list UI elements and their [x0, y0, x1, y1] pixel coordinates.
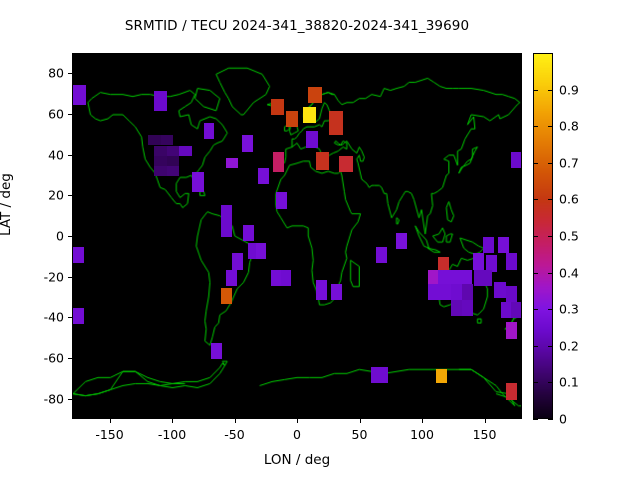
- x-tick-mark: [297, 419, 298, 423]
- y-tick-label: -60: [30, 351, 64, 366]
- colorbar-tick-mark: [548, 273, 553, 274]
- heatmap-cell: [511, 152, 522, 168]
- colorbar-tick-mark: [533, 90, 538, 91]
- x-tick-label: 150: [455, 427, 515, 442]
- colorbar-tick-mark: [548, 90, 553, 91]
- heatmap-cell: [474, 270, 492, 286]
- heatmap-cell: [376, 247, 387, 263]
- y-tick-mark: [68, 195, 72, 196]
- heatmap-cell: [148, 135, 161, 145]
- heatmap-cell: [506, 253, 517, 269]
- heatmap-cell: [258, 168, 269, 184]
- x-tick-label: -50: [205, 427, 265, 442]
- heatmap-cell: [154, 146, 167, 156]
- colorbar-tick-label: 0.3: [559, 302, 579, 317]
- y-tick-mark: [68, 399, 72, 400]
- colorbar-tick-mark: [548, 309, 553, 310]
- y-tick-mark: [68, 317, 72, 318]
- heatmap-cell: [339, 156, 353, 172]
- figure-canvas: SRMTID / TECU 2024-341_38820-2024-341_39…: [0, 0, 640, 480]
- y-tick-label: 20: [30, 188, 64, 203]
- colorbar-tick-label: 0.9: [559, 82, 579, 97]
- heatmap-cell: [286, 111, 299, 127]
- heatmap-cell: [73, 247, 84, 263]
- colorbar-tick-label: 0.2: [559, 338, 579, 353]
- x-tick-label: -100: [142, 427, 202, 442]
- heatmap-cell: [167, 146, 180, 156]
- heatmap-cell: [316, 280, 327, 300]
- colorbar-tick-mark: [533, 346, 538, 347]
- heatmap-cell: [161, 135, 174, 145]
- heatmap-cell: [232, 253, 243, 269]
- colorbar-tick-mark: [533, 382, 538, 383]
- y-tick-label: 0: [30, 229, 64, 244]
- heatmap-cell: [179, 146, 192, 156]
- heatmap-cell: [494, 282, 505, 298]
- heatmap-cell: [506, 286, 517, 302]
- heatmap-cell: [256, 243, 266, 259]
- heatmap-cells-layer: [73, 54, 521, 418]
- heatmap-cell: [506, 322, 517, 338]
- heatmap-cell: [154, 91, 167, 111]
- heatmap-cell: [73, 85, 86, 105]
- colorbar-tick-label: 0.5: [559, 229, 579, 244]
- x-axis-label: LON / deg: [72, 452, 522, 468]
- heatmap-cell: [303, 107, 316, 123]
- y-tick-mark: [68, 155, 72, 156]
- y-tick-mark: [68, 277, 72, 278]
- y-tick-mark: [68, 358, 72, 359]
- heatmap-cell: [506, 383, 517, 399]
- y-tick-label: -80: [30, 391, 64, 406]
- heatmap-cell: [192, 172, 205, 192]
- y-axis-label: LAT / deg: [0, 173, 14, 236]
- colorbar-tick-label: 0.1: [559, 375, 579, 390]
- colorbar-tick-mark: [548, 199, 553, 200]
- colorbar-tick-mark: [533, 419, 538, 420]
- colorbar-tick-label: 0.8: [559, 119, 579, 134]
- y-tick-label: 80: [30, 66, 64, 81]
- colorbar-tick-label: 0.4: [559, 265, 579, 280]
- heatmap-cell: [451, 284, 462, 300]
- heatmap-cell: [226, 158, 239, 168]
- colorbar-tick-label: 0.6: [559, 192, 579, 207]
- x-tick-mark: [360, 419, 361, 423]
- y-tick-label: -40: [30, 310, 64, 325]
- heatmap-cell: [211, 343, 222, 359]
- colorbar-tick-mark: [548, 346, 553, 347]
- heatmap-cell: [439, 284, 450, 300]
- heatmap-cell: [396, 233, 407, 249]
- heatmap-cell: [316, 152, 330, 170]
- heatmap-cell: [451, 300, 462, 316]
- y-tick-mark: [68, 236, 72, 237]
- colorbar-tick-mark: [548, 163, 553, 164]
- heatmap-cell: [221, 288, 232, 304]
- colorbar-tick-mark: [533, 199, 538, 200]
- heatmap-cell: [73, 308, 84, 324]
- heatmap-cell: [167, 156, 180, 166]
- heatmap-cell: [428, 284, 439, 300]
- map-axes: [72, 53, 522, 419]
- x-tick-label: -150: [80, 427, 140, 442]
- heatmap-cell: [521, 135, 523, 151]
- x-tick-label: 0: [267, 427, 327, 442]
- y-tick-mark: [68, 114, 72, 115]
- heatmap-cell: [281, 270, 291, 286]
- heatmap-cell: [273, 152, 284, 172]
- colorbar-tick-mark: [548, 236, 553, 237]
- heatmap-cell: [462, 300, 473, 316]
- colorbar-tick-label: 0.7: [559, 155, 579, 170]
- heatmap-cell: [306, 131, 319, 147]
- heatmap-cell: [483, 237, 494, 253]
- x-tick-label: 100: [392, 427, 452, 442]
- colorbar-tick-mark: [533, 309, 538, 310]
- x-tick-mark: [422, 419, 423, 423]
- colorbar-tick-mark: [548, 126, 553, 127]
- colorbar-tick-mark: [548, 382, 553, 383]
- heatmap-cell: [271, 99, 285, 115]
- plot-title: SRMTID / TECU 2024-341_38820-2024-341_39…: [0, 18, 594, 34]
- colorbar-tick-mark: [533, 273, 538, 274]
- x-tick-mark: [172, 419, 173, 423]
- x-tick-mark: [110, 419, 111, 423]
- colorbar-tick-mark: [533, 236, 538, 237]
- y-tick-label: -20: [30, 269, 64, 284]
- heatmap-cell: [371, 367, 389, 383]
- colorbar-tick-label: 0: [559, 412, 567, 427]
- heatmap-cell: [226, 270, 237, 286]
- colorbar-tick-mark: [533, 163, 538, 164]
- x-tick-mark: [485, 419, 486, 423]
- heatmap-cell: [329, 111, 343, 135]
- heatmap-cell: [276, 192, 287, 208]
- x-tick-mark: [235, 419, 236, 423]
- heatmap-cell: [221, 205, 232, 238]
- colorbar-tick-mark: [548, 419, 553, 420]
- heatmap-cell: [331, 284, 342, 300]
- heatmap-cell: [436, 369, 447, 383]
- y-tick-label: 60: [30, 107, 64, 122]
- x-tick-label: 50: [330, 427, 390, 442]
- heatmap-cell: [154, 166, 167, 176]
- heatmap-cell: [204, 123, 214, 139]
- heatmap-cell: [242, 135, 253, 151]
- heatmap-cell: [243, 225, 254, 241]
- colorbar-tick-mark: [533, 126, 538, 127]
- heatmap-cell: [498, 237, 509, 253]
- heatmap-cell: [462, 284, 473, 300]
- heatmap-cell: [308, 87, 322, 103]
- heatmap-cell: [473, 253, 484, 269]
- y-tick-label: 40: [30, 147, 64, 162]
- y-tick-mark: [68, 73, 72, 74]
- heatmap-cell: [511, 302, 522, 318]
- heatmap-cell: [154, 156, 167, 166]
- heatmap-cell: [167, 166, 180, 176]
